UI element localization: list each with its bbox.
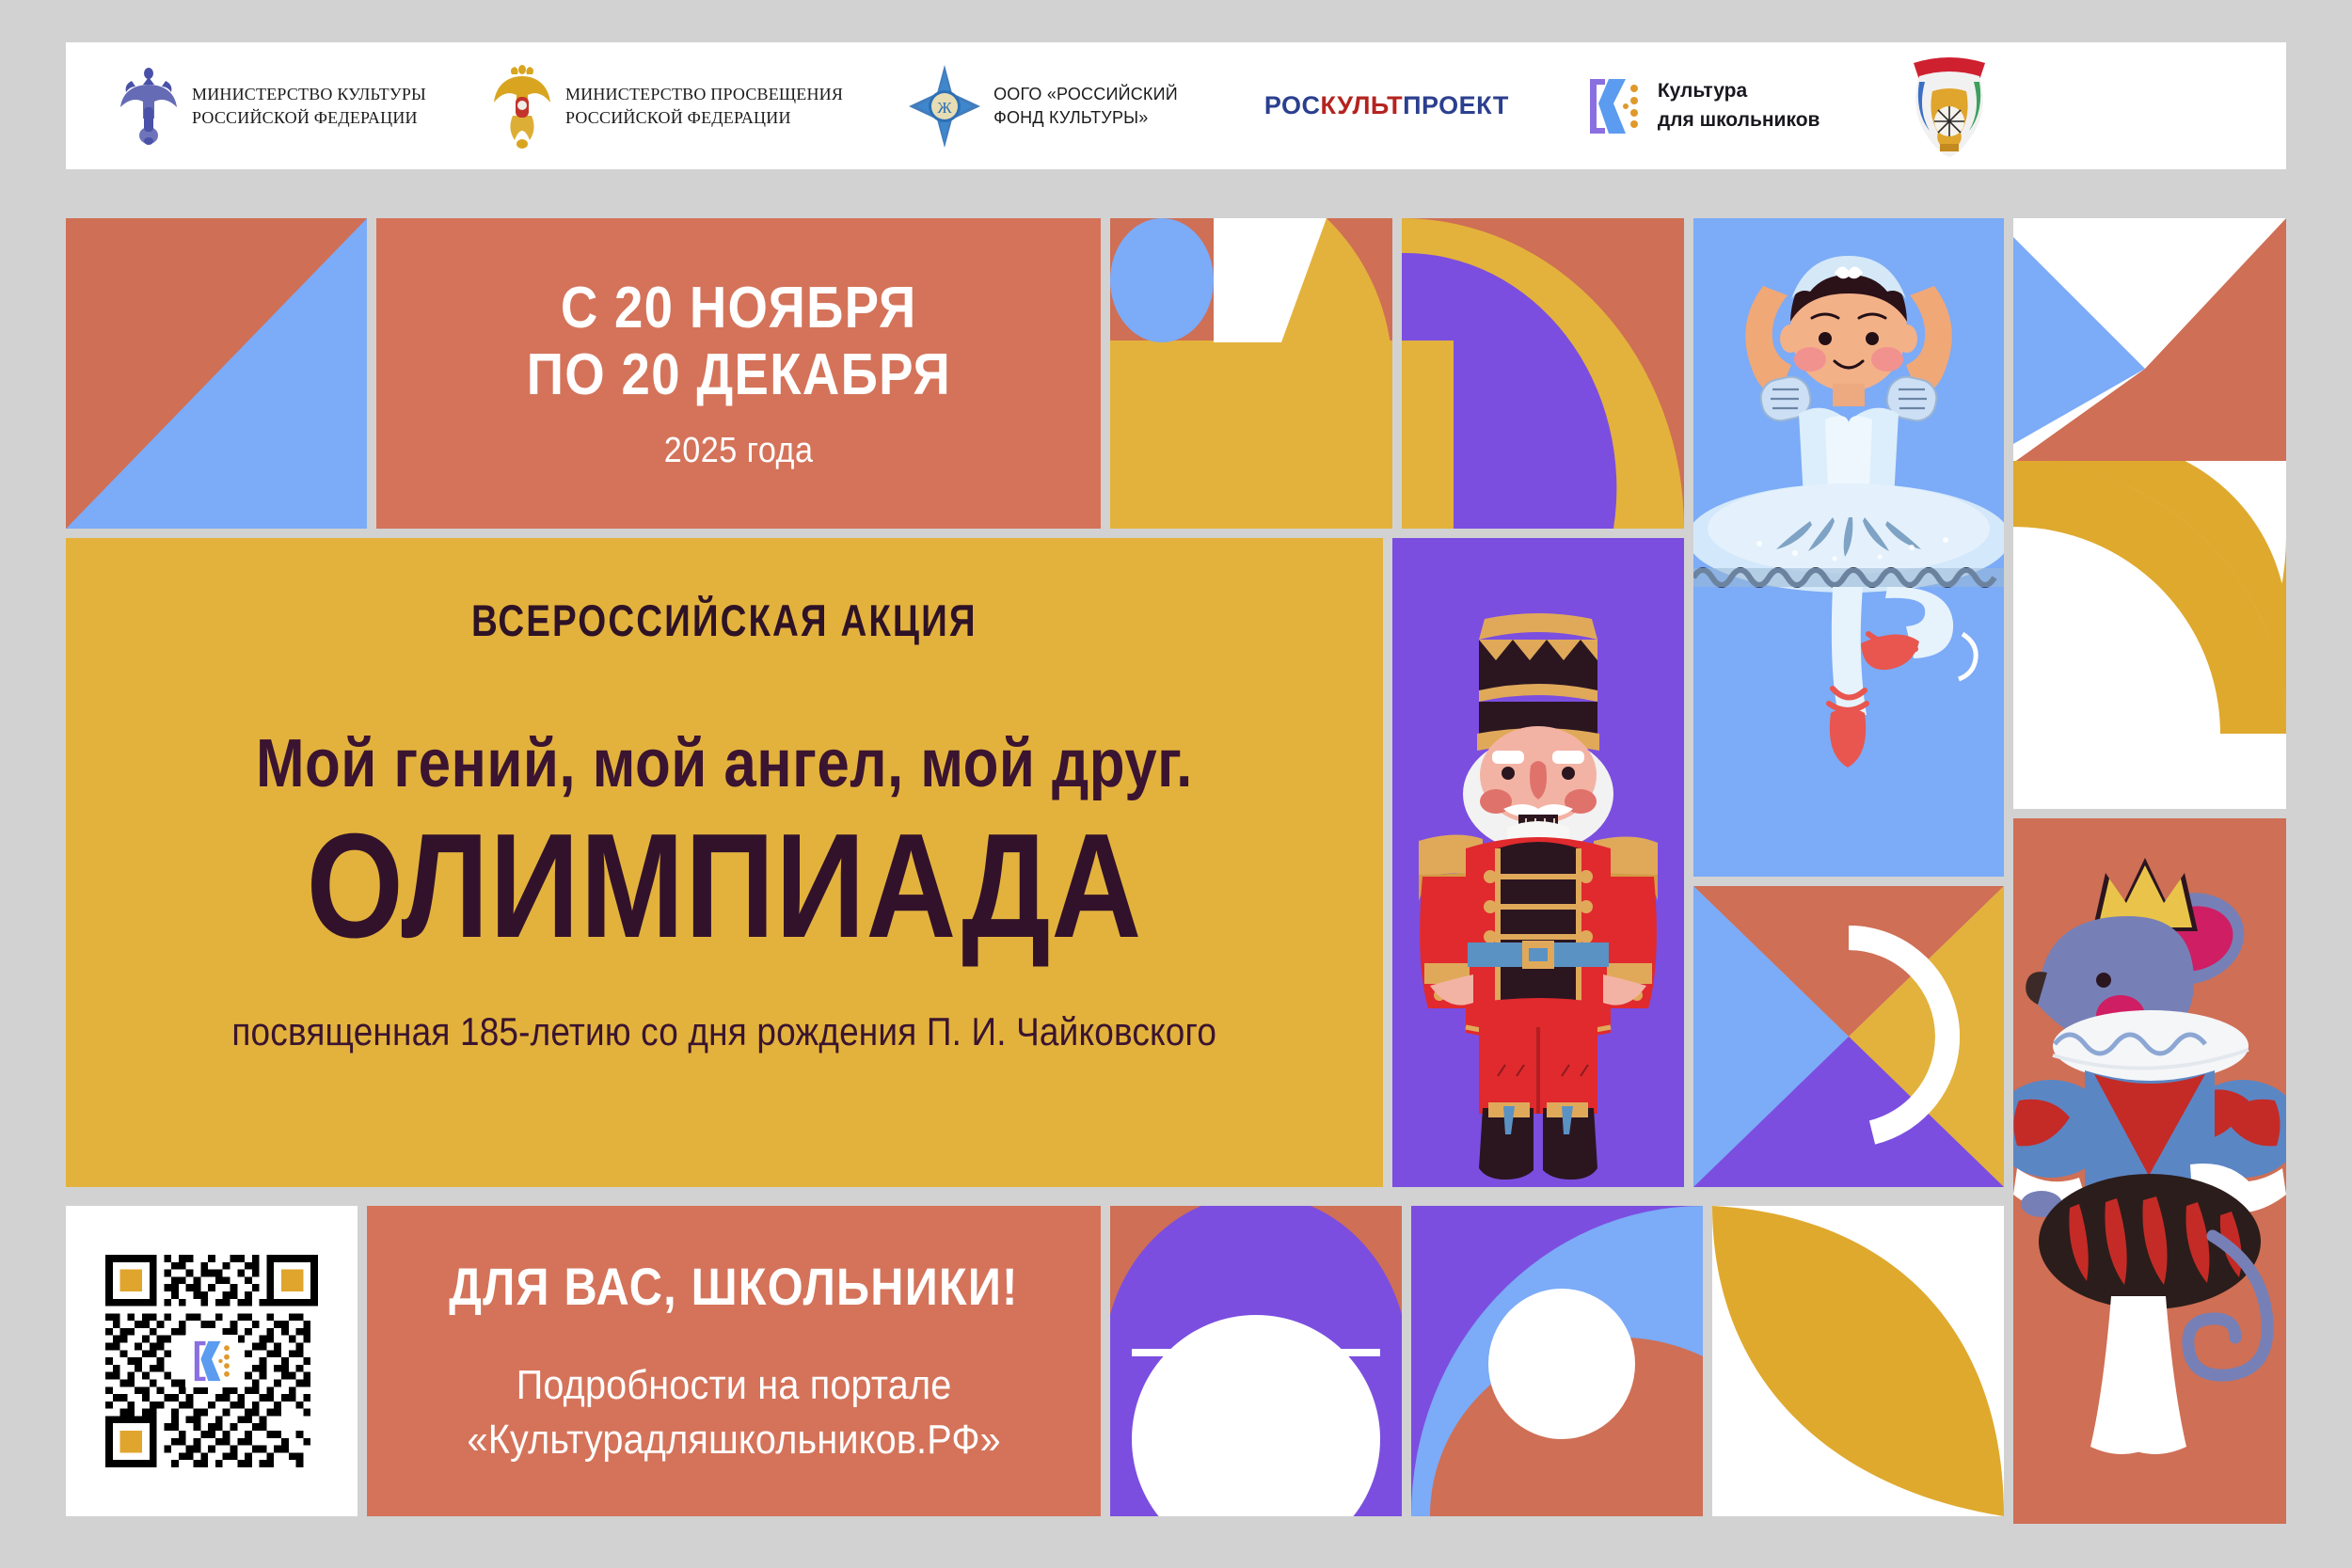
logo-label-line1: Культура (1658, 77, 1820, 105)
decor-circle-square (1110, 218, 1392, 529)
illustration-mouse-king (2013, 818, 2286, 1524)
info-heading: ДЛЯ ВАС, ШКОЛЬНИКИ! (449, 1256, 1018, 1317)
svg-text:Ж: Ж (937, 99, 952, 117)
qr-code-block[interactable] (66, 1206, 358, 1516)
double-headed-eagle-gold-icon (492, 63, 552, 150)
main-announcement-block: ВСЕРОССИЙСКАЯ АКЦИЯ Мой гений, мой ангел… (66, 538, 1383, 1187)
info-block: ДЛЯ ВАС, ШКОЛЬНИКИ! Подробности на порта… (367, 1206, 1101, 1516)
logo-tchaikovsky-music-school (1900, 42, 1998, 169)
poster-root: МИНИСТЕРСТВО КУЛЬТУРЫ РОССИЙСКОЙ ФЕДЕРАЦ… (0, 0, 2352, 1568)
logo-roskultproject: РОСКУЛЬТПРОЕКТ (1264, 42, 1509, 169)
decor-gold-arc (2013, 461, 2286, 809)
info-line-2: «Культурадляшкольников.РФ» (467, 1413, 1000, 1466)
subtitle-text: посвященная 185-летию со дня рождения П.… (232, 1009, 1217, 1054)
lyre-ribbon-crest-icon (1900, 54, 1998, 159)
logo-label-line2: РОССИЙСКОЙ ФЕДЕРАЦИИ (192, 106, 426, 129)
logo-russian-culture-fund: Ж ООГО «РОССИЙСКИЙ ФОНД КУЛЬТУРЫ» (909, 42, 1178, 169)
qr-code[interactable] (105, 1255, 318, 1467)
logo-label-line2: РОССИЙСКОЙ ФЕДЕРАЦИИ (565, 106, 843, 129)
decor-purple-ellipse (1110, 1206, 1402, 1516)
decor-quad-triangles (1693, 886, 2004, 1187)
k-bracket-dots-icon (1584, 75, 1643, 137)
date-line-1: С 20 НОЯБРЯ (561, 276, 917, 341)
date-year: 2025 года (664, 431, 814, 471)
logo-ministry-of-culture: МИНИСТЕРСТВО КУЛЬТУРЫ РОССИЙСКОЙ ФЕДЕРАЦ… (119, 42, 426, 169)
roskultproject-part-proekt: ПРОЕКТ (1403, 91, 1509, 119)
decor-blue-terracotta (1411, 1206, 1703, 1516)
logo-label-line1: МИНИСТЕРСТВО КУЛЬТУРЫ (192, 83, 426, 105)
decor-top-right (2013, 218, 2286, 500)
logo-label-line2: для школьников (1658, 106, 1820, 135)
double-headed-eagle-blue-icon (119, 66, 179, 147)
logo-label-line2: ФОНД КУЛЬТУРЫ» (993, 106, 1178, 129)
illustration-nutcracker (1392, 538, 1684, 1187)
logo-culture-for-schoolchildren: Культура для школьников (1584, 42, 1820, 169)
decor-gold-leaf (1712, 1206, 2004, 1516)
decor-top-left (66, 218, 367, 529)
roskultproject-part-ros: РОС (1264, 91, 1321, 119)
logo-label-line1: ООГО «РОССИЙСКИЙ (993, 83, 1178, 105)
illustration-ballerina (1693, 218, 2004, 877)
roskultproject-part-kult: КУЛЬТ (1321, 91, 1404, 119)
date-block: С 20 НОЯБРЯ ПО 20 ДЕКАБРЯ 2025 года (376, 218, 1101, 529)
partner-logo-bar: МИНИСТЕРСТВО КУЛЬТУРЫ РОССИЙСКОЙ ФЕДЕРАЦ… (66, 42, 2286, 169)
logo-label-line1: МИНИСТЕРСТВО ПРОСВЕЩЕНИЯ (565, 83, 843, 105)
logo-ministry-of-education: МИНИСТЕРСТВО ПРОСВЕЩЕНИЯ РОССИЙСКОЙ ФЕДЕ… (492, 42, 843, 169)
date-line-2: ПО 20 ДЕКАБРЯ (526, 342, 950, 408)
decor-gold-arc-purple (1402, 218, 1684, 529)
starburst-monogram-icon: Ж (909, 65, 980, 148)
tagline-text: Мой гений, мой ангел, мой друг. (256, 725, 1193, 802)
info-line-1: Подробности на портале (516, 1358, 952, 1412)
k-bracket-dots-icon (185, 1335, 238, 1387)
page-title: ОЛИМПИАДА (307, 812, 1143, 960)
kicker-text: ВСЕРОССИЙСКАЯ АКЦИЯ (471, 594, 977, 646)
